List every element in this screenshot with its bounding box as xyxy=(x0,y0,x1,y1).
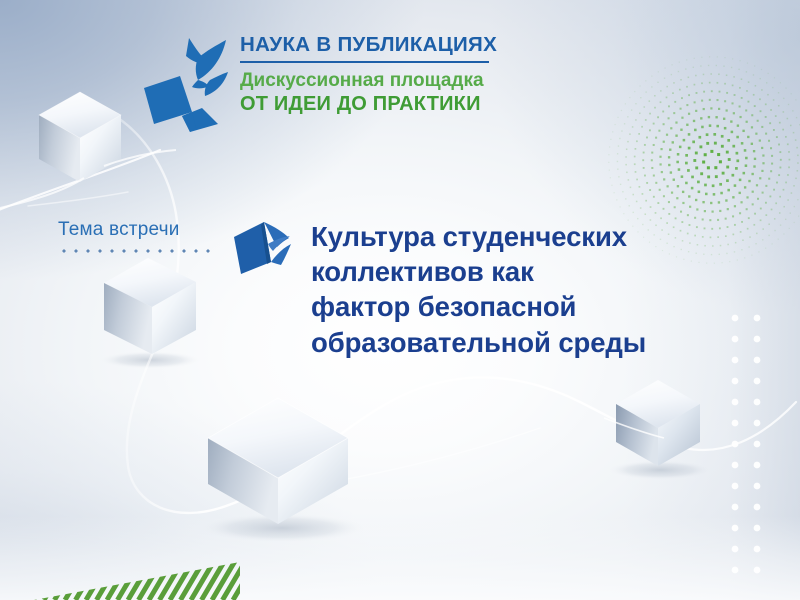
page-title: Культура студенческих коллективов как фа… xyxy=(311,219,711,360)
logo-divider xyxy=(240,61,489,63)
cube-mid-left xyxy=(104,258,196,354)
logo-tagline: ОТ ИДЕИ ДО ПРАКТИКИ xyxy=(240,94,498,116)
page-title-line: Культура студенческих xyxy=(311,219,711,254)
page-title-line: образовательной среды xyxy=(311,325,711,360)
logo-title: НАУКА В ПУБЛИКАЦИЯХ xyxy=(240,34,498,56)
cube-right xyxy=(616,380,700,466)
dotted-underline xyxy=(58,249,218,253)
green-diagonal-stripes xyxy=(0,556,291,600)
meeting-topic-label: Тема встречи xyxy=(58,219,218,241)
open-book-icon xyxy=(231,218,297,280)
white-dot-columns xyxy=(732,315,761,574)
cube-top-left xyxy=(39,92,121,182)
page-title-line: фактор безопасной xyxy=(311,289,711,324)
bird-over-open-book-icon xyxy=(140,32,240,136)
meeting-topic-label-group: Тема встречи xyxy=(58,219,218,253)
brand-logo: НАУКА В ПУБЛИКАЦИЯХ Дискуссионная площад… xyxy=(140,28,500,140)
logo-subtitle: Дискуссионная площадка xyxy=(240,71,498,92)
slide-canvas: НАУКА В ПУБЛИКАЦИЯХ Дискуссионная площад… xyxy=(0,0,800,600)
page-title-line: коллективов как xyxy=(311,254,711,289)
